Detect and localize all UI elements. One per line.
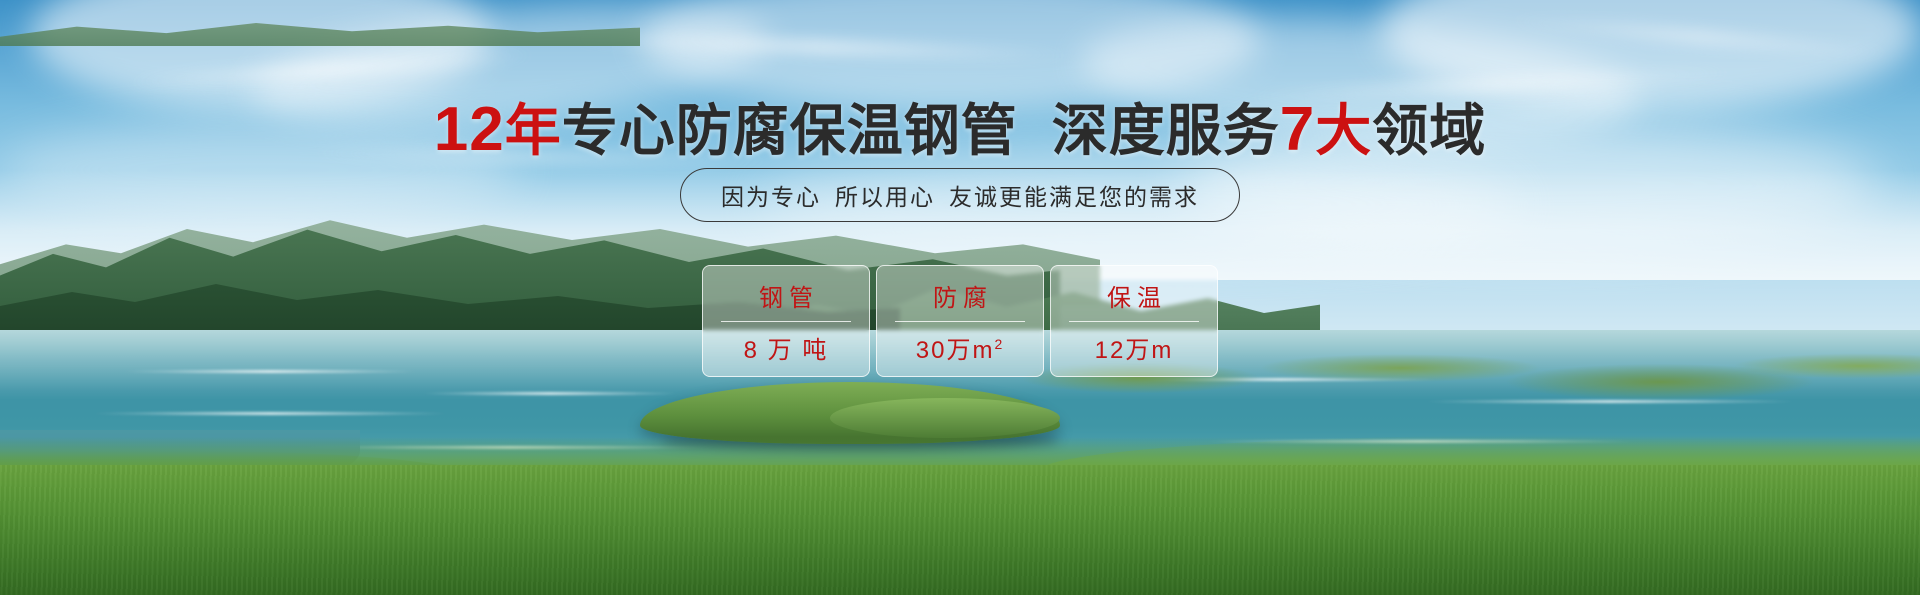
stat-value: 8 万 吨 xyxy=(744,330,829,365)
headline-fields-unit: 大 xyxy=(1315,99,1372,162)
banner-subtitle-pill: 因为专心所以用心友诚更能满足您的需求 xyxy=(680,168,1240,222)
stat-label: 保温 xyxy=(1101,278,1167,313)
stat-label: 防腐 xyxy=(927,278,993,313)
stat-value-text: 8 万 吨 xyxy=(744,337,829,364)
stat-value-text: 12万m xyxy=(1095,337,1174,364)
headline-years-unit: 年 xyxy=(505,99,562,162)
stat-value-text: 30万m xyxy=(916,337,995,364)
stat-card-anticorrosion: 防腐 30万m2 xyxy=(876,265,1044,377)
headline-service-text: 深度服务 xyxy=(1052,99,1280,162)
headline-fields-number: 7 xyxy=(1280,95,1315,164)
subtitle-part-1: 因为专心 xyxy=(721,184,821,210)
headline-fields-text: 领域 xyxy=(1372,99,1486,162)
banner-content: 12年专心防腐保温钢管深度服务7大领域 因为专心所以用心友诚更能满足您的需求 钢… xyxy=(0,0,1920,595)
stat-card-steel-pipe: 钢管 8 万 吨 xyxy=(702,265,870,377)
subtitle-part-3: 友诚更能满足您的需求 xyxy=(949,184,1199,210)
stat-divider xyxy=(721,321,850,322)
stat-value: 30万m2 xyxy=(916,330,1004,365)
stat-card-group: 钢管 8 万 吨 防腐 30万m2 保温 12万m xyxy=(0,265,1920,377)
headline-years-number: 12 xyxy=(434,95,505,164)
banner-headline: 12年专心防腐保温钢管深度服务7大领域 xyxy=(0,86,1920,167)
stat-card-insulation: 保温 12万m xyxy=(1050,265,1218,377)
stat-label: 钢管 xyxy=(753,278,819,313)
stat-divider xyxy=(895,321,1024,322)
stat-divider xyxy=(1069,321,1198,322)
headline-main-text: 专心防腐保温钢管 xyxy=(562,99,1018,162)
hero-banner: 12年专心防腐保温钢管深度服务7大领域 因为专心所以用心友诚更能满足您的需求 钢… xyxy=(0,0,1920,595)
stat-value-superscript: 2 xyxy=(994,336,1004,352)
subtitle-part-2: 所以用心 xyxy=(835,184,935,210)
stat-value: 12万m xyxy=(1095,330,1174,365)
banner-subtitle-wrapper: 因为专心所以用心友诚更能满足您的需求 xyxy=(0,168,1920,222)
